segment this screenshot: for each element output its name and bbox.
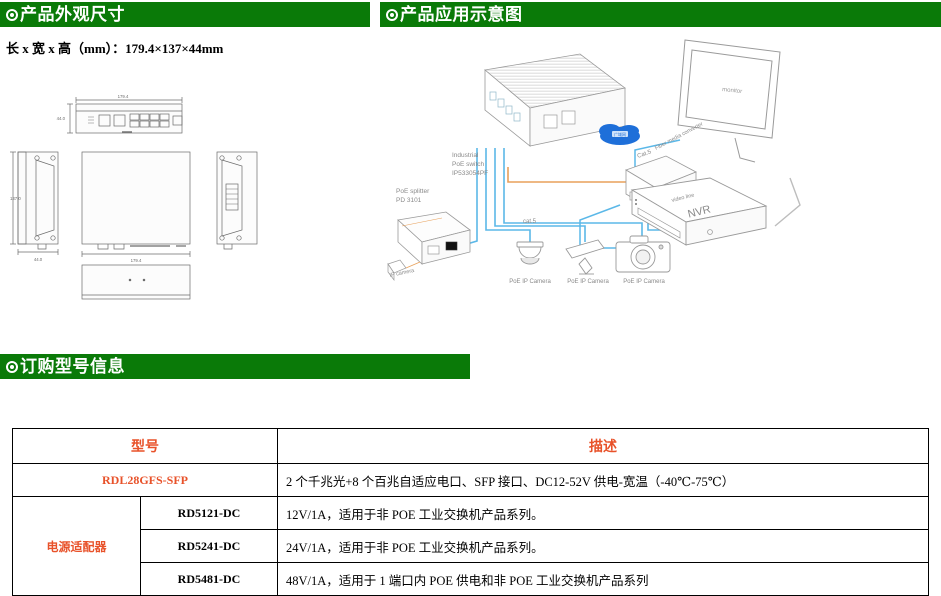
cell-model-main: RDL28GFS-SFP xyxy=(13,464,278,497)
dim-label-bottom-width: 179.4 xyxy=(131,258,142,263)
section-header-dimensions: 产品外观尺寸 xyxy=(0,2,370,27)
cell-desc-rd5481: 48V/1A，适用于 1 端口内 POE 供电和非 POE 工业交换机产品系列 xyxy=(278,563,929,596)
cat5-label-left: cat.5 xyxy=(523,219,537,225)
section-header-dimensions-label: 产品外观尺寸 xyxy=(20,5,125,24)
section-header-ordering-label: 订购型号信息 xyxy=(20,357,125,376)
splitter-label-line1: PoE splitter xyxy=(396,188,430,195)
cell-desc-rd5121: 12V/1A，适用于非 POE 工业交换机产品系列。 xyxy=(278,497,929,530)
table-row: 电源适配器 RD5121-DC 12V/1A，适用于非 POE 工业交换机产品系… xyxy=(13,497,929,530)
dimension-caption: 长 x 宽 x 高（mm）：179.4×137×44mm xyxy=(6,38,223,57)
section-header-application: 产品应用示意图 xyxy=(380,2,941,27)
cell-model-rd5241: RD5241-DC xyxy=(141,530,278,563)
monitor-graphic xyxy=(678,40,780,162)
poe-camera-label-2: PoE IP Camera xyxy=(567,279,609,285)
cell-group-power-adapter: 电源适配器 xyxy=(13,497,141,596)
table-row: RDL28GFS-SFP 2 个千兆光+8 个百兆自适应电口、SFP 接口、DC… xyxy=(13,464,929,497)
dim-label-depth: 137.0 xyxy=(10,196,21,201)
monitor-label: monitor xyxy=(722,87,743,95)
table-row: RD5481-DC 48V/1A，适用于 1 端口内 POE 供电和非 POE … xyxy=(13,563,929,596)
section-header-application-label: 产品应用示意图 xyxy=(400,5,523,24)
bullet-ring-icon xyxy=(386,9,398,21)
table-header-row: 型号 描述 xyxy=(13,429,929,464)
table-row: RD5241-DC 24V/1A，适用于非 POE 工业交换机产品系列。 xyxy=(13,530,929,563)
application-diagram: 广域网 monitor NVR Industrial Po xyxy=(380,30,941,300)
poe-camera-label-3: PoE IP Camera xyxy=(623,279,665,285)
bullet-ring-icon xyxy=(6,9,18,21)
cloud-icon: 广域网 xyxy=(599,124,640,145)
column-header-model: 型号 xyxy=(13,429,278,464)
dim-label-height: 44.0 xyxy=(57,116,66,121)
cell-desc-rd5241: 24V/1A，适用于非 POE 工业交换机产品系列。 xyxy=(278,530,929,563)
switch-label-line1: Industrial xyxy=(452,152,479,159)
fiber-converter-label: Fiber media converter xyxy=(654,121,704,151)
ordering-table: 型号 描述 RDL28GFS-SFP 2 个千兆光+8 个百兆自适应电口、SFP… xyxy=(12,428,929,596)
cat5-label-right: Cat.5 xyxy=(637,149,653,160)
switch-label-line3: IP533054PF xyxy=(452,170,488,177)
cloud-label: 广域网 xyxy=(614,131,626,137)
dim-label-side-width: 44.0 xyxy=(34,257,43,262)
section-header-ordering: 订购型号信息 xyxy=(0,354,470,379)
dslr-camera-graphic xyxy=(616,236,670,272)
bullet-camera-graphic xyxy=(566,240,604,274)
switch-label-line2: PoE switch xyxy=(452,161,485,168)
bullet-ring-icon xyxy=(6,361,18,373)
cell-desc-main: 2 个千兆光+8 个百兆自适应电口、SFP 接口、DC12-52V 供电-宽温（… xyxy=(278,464,929,497)
column-header-description: 描述 xyxy=(278,429,929,464)
nvr-graphic: NVR xyxy=(632,178,766,245)
splitter-label-line2: PD 3101 xyxy=(396,197,422,204)
mechanical-drawing: 179.4 44.0 137.0 44.0 179.4 xyxy=(10,90,290,310)
cell-model-rd5121: RD5121-DC xyxy=(141,497,278,530)
poe-camera-label-1: PoE IP Camera xyxy=(509,279,551,285)
dim-label-length: 179.4 xyxy=(118,94,129,99)
cell-model-rd5481: RD5481-DC xyxy=(141,563,278,596)
dome-camera-graphic xyxy=(517,242,543,264)
